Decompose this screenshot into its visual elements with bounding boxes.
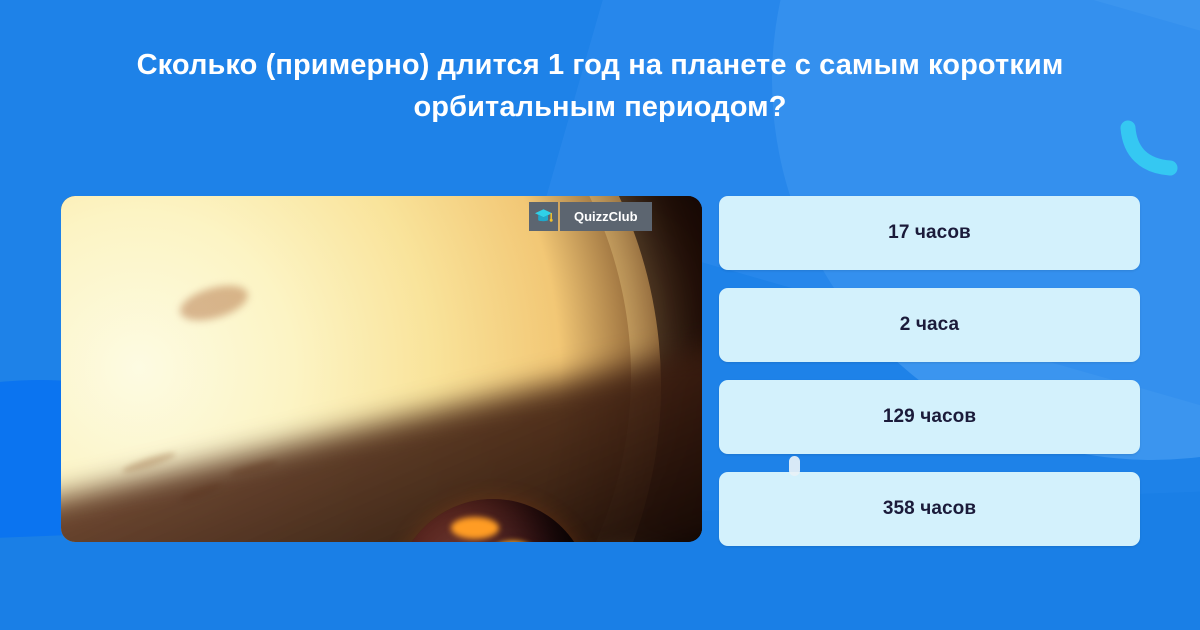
answer-option-label: 129 часов [883, 406, 976, 428]
answer-option-1[interactable]: 17 часов [719, 196, 1140, 270]
space-scene-illustration [61, 196, 702, 542]
quiz-card: Сколько (примерно) длится 1 год на плане… [0, 0, 1200, 630]
answer-option-label: 358 часов [883, 498, 976, 520]
answer-option-4[interactable]: 358 часов [719, 472, 1140, 546]
watermark: QuizzClub [529, 202, 652, 231]
page-title: Сколько (примерно) длится 1 год на плане… [100, 44, 1100, 128]
answer-option-3[interactable]: 129 часов [719, 380, 1140, 454]
answer-option-2[interactable]: 2 часа [719, 288, 1140, 362]
graduation-cap-icon [529, 202, 558, 231]
answer-option-label: 2 часа [900, 314, 959, 336]
scroll-handle[interactable] [789, 456, 800, 476]
answer-options-list: 17 часов 2 часа 129 часов 358 часов [719, 196, 1140, 546]
cyan-arc-icon [1118, 118, 1182, 180]
watermark-brand: QuizzClub [560, 202, 652, 231]
answer-option-label: 17 часов [888, 222, 971, 244]
question-image: QuizzClub [61, 196, 702, 542]
